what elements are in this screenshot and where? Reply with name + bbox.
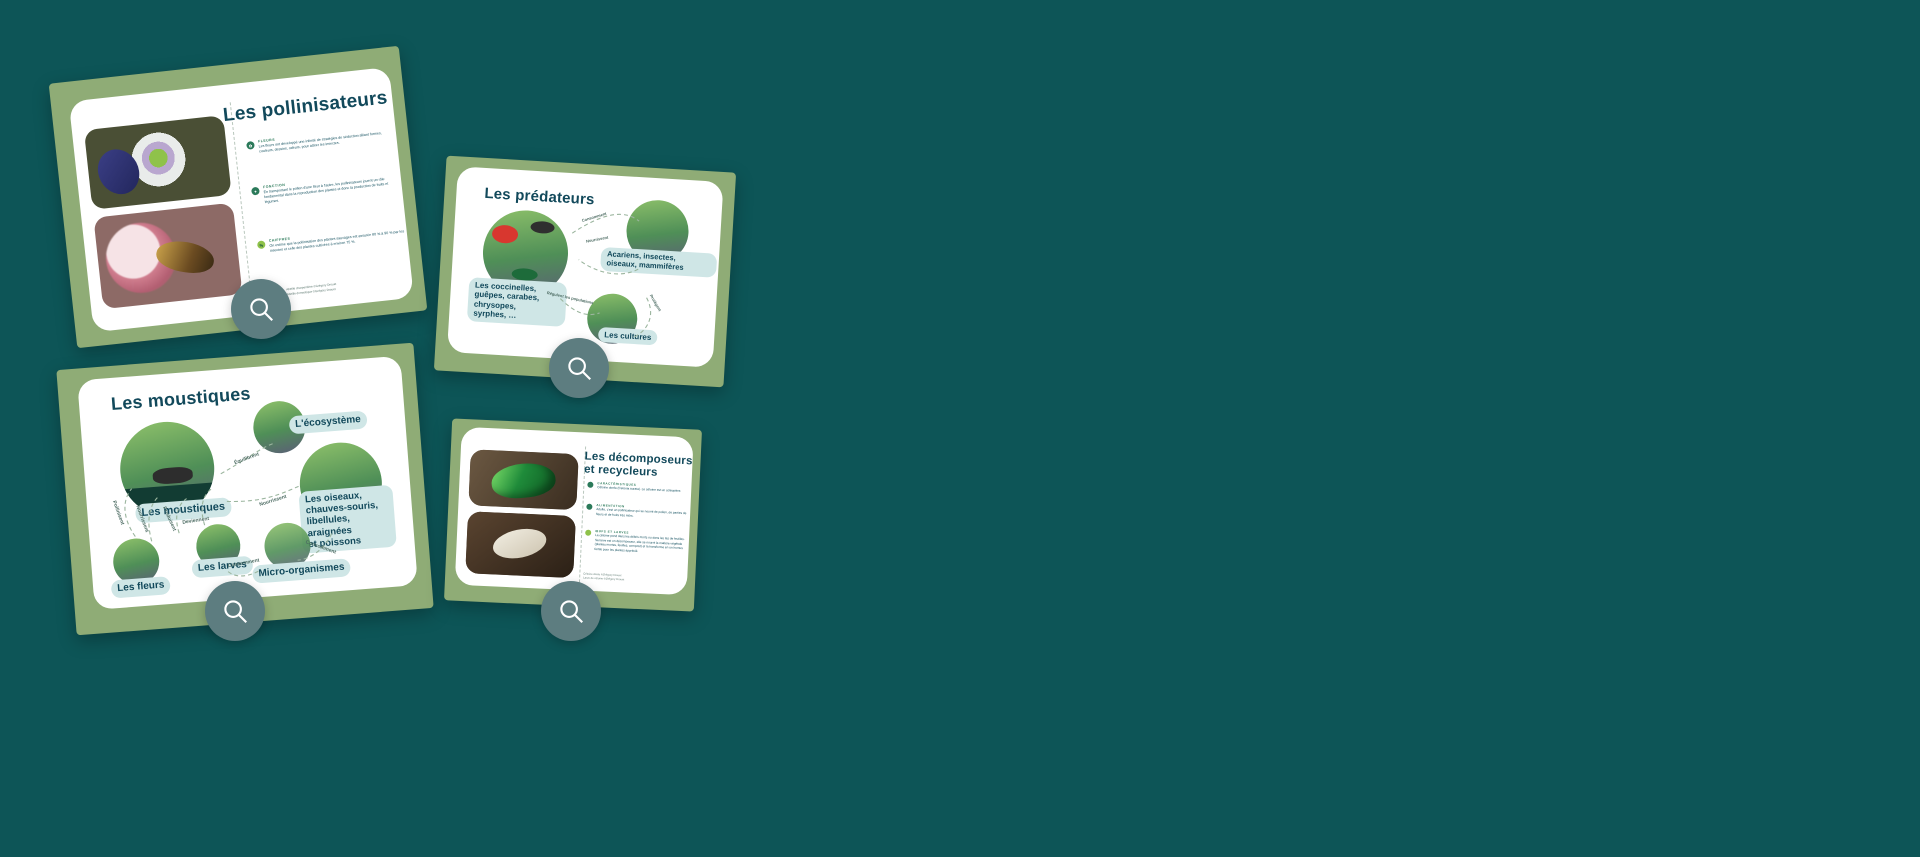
flower-icon: ✿ — [246, 141, 255, 150]
search-icon — [556, 596, 586, 626]
photo-beetle-larva-in-compost — [465, 511, 576, 578]
card-sheet: Les prédateurs Les coccinelles, guêpes, … — [447, 166, 724, 367]
bullet-item: ✿ FLEURS Les fleurs ont développé une in… — [246, 126, 387, 156]
bullet-item: CARACTÉRISTIQUES Cétoine dorée (Cetonia … — [587, 481, 687, 494]
photo-credits: Abeille charpentière ©Grégory Drouet Abe… — [286, 282, 337, 296]
photo-passion-flower-with-carpenter-bee — [84, 115, 232, 210]
magnifier-button-predateurs[interactable] — [549, 338, 609, 398]
percent-icon: % — [257, 240, 266, 249]
search-icon — [564, 353, 594, 383]
search-icon — [220, 596, 250, 626]
larva-icon — [585, 530, 591, 536]
page-title: Les pollinisateurs — [222, 87, 388, 126]
magnifier-button-moustiques[interactable] — [205, 581, 265, 641]
page-title: Les décomposeurs et recycleurs — [584, 450, 693, 481]
photo-cetonia-aurata-beetle — [468, 449, 578, 510]
canvas: Les pollinisateurs ✿ FLEURS Les fleurs o… — [0, 0, 1920, 857]
search-icon — [246, 294, 276, 324]
leaf-icon — [587, 482, 593, 488]
photo-honeybee-on-blossom — [93, 203, 242, 310]
card-sheet: Les décomposeurs et recycleurs CARACTÉRI… — [455, 427, 694, 595]
card-sheet: Les moustiques Les moustiques L'écosystè… — [77, 356, 418, 610]
function-icon: ✦ — [251, 187, 260, 196]
cycle-arrows — [447, 166, 724, 367]
photo-credits: Cétoine dorée ©Grégory Drouet Larve de c… — [583, 573, 624, 583]
food-icon — [586, 504, 592, 510]
cycle-arrows — [77, 356, 418, 610]
bullet-item: ŒUFS ET LARVES La cétoine pond dans les … — [584, 529, 689, 556]
bullet-item: % CHIFFRES On estime que la pollinisatio… — [257, 224, 408, 256]
bullet-item: ALIMENTATION Adulte, c'est un pollinisat… — [586, 503, 690, 521]
magnifier-button-pollinisateurs[interactable] — [231, 279, 291, 339]
bullet-text: La cétoine pond dans les débris morts ou… — [594, 533, 684, 552]
bullet-item: ✦ FONCTION En transportant le pollen d'u… — [251, 170, 402, 207]
magnifier-button-decomposeurs[interactable] — [541, 581, 601, 641]
